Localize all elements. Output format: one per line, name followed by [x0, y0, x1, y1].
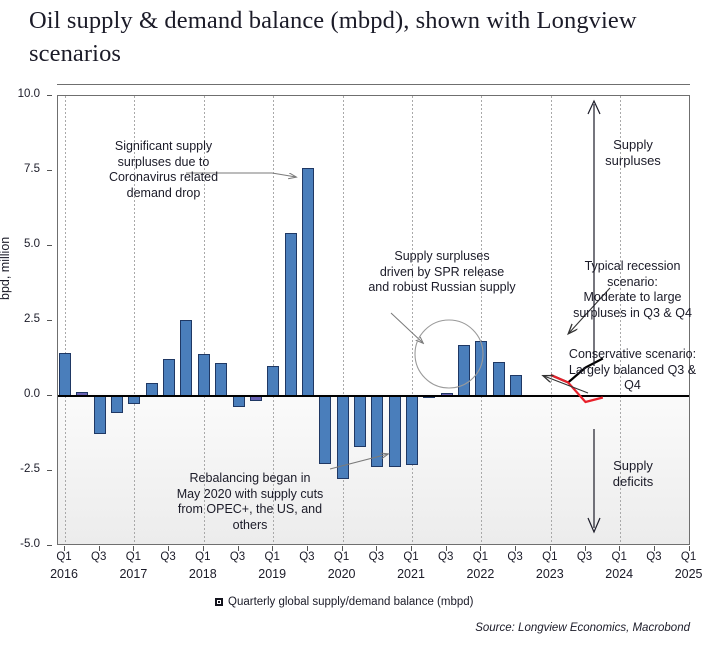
x-tick-label-year: 2016 — [36, 567, 92, 581]
x-tick-label-year: 2019 — [244, 567, 300, 581]
y-tick-label: -2.5 — [0, 463, 40, 475]
y-tick-mark — [47, 170, 52, 171]
x-tick-mark — [64, 546, 65, 551]
chart-legend: Quarterly global supply/demand balance (… — [215, 596, 473, 608]
x-tick-mark — [376, 546, 377, 551]
x-tick-label-year: 2022 — [452, 567, 508, 581]
y-tick-label: 0.0 — [0, 388, 40, 400]
title-divider — [57, 84, 690, 85]
x-tick-mark — [307, 546, 308, 551]
x-tick-mark — [689, 546, 690, 551]
x-tick-mark — [133, 546, 134, 551]
x-tick-mark — [238, 546, 239, 551]
x-tick-label-year: 2025 — [661, 567, 707, 581]
x-tick-label-quarter: Q1 — [669, 551, 707, 563]
y-tick-label: 7.5 — [0, 163, 40, 175]
x-tick-mark — [446, 546, 447, 551]
y-tick-mark — [47, 395, 52, 396]
x-tick-mark — [654, 546, 655, 551]
x-tick-label-quarter: Q3 — [703, 551, 707, 563]
x-tick-mark — [411, 546, 412, 551]
annotation-rebalancing: Rebalancing began in May 2020 with suppl… — [165, 471, 335, 533]
rebalancing-leader-line — [330, 454, 388, 469]
annotation-covid: Significant supply surpluses due to Coro… — [96, 139, 231, 201]
y-tick-mark — [47, 95, 52, 96]
y-tick-mark — [47, 470, 52, 471]
x-tick-mark — [342, 546, 343, 551]
x-tick-label-year: 2023 — [522, 567, 578, 581]
x-tick-mark — [585, 546, 586, 551]
y-tick-label: 10.0 — [0, 88, 40, 100]
label-supply-surpluses: Supply surpluses — [595, 137, 671, 169]
x-tick-label-year: 2020 — [314, 567, 370, 581]
x-tick-mark — [272, 546, 273, 551]
legend-swatch-icon — [215, 598, 223, 606]
x-tick-mark — [203, 546, 204, 551]
x-tick-label-year: 2021 — [383, 567, 439, 581]
legend-label: Quarterly global supply/demand balance (… — [228, 596, 473, 608]
annotation-recession-scenario: Typical recession scenario: Moderate to … — [560, 259, 705, 321]
x-tick-mark — [480, 546, 481, 551]
y-tick-mark — [47, 545, 52, 546]
x-tick-mark — [550, 546, 551, 551]
y-axis-title: bpd, million — [0, 237, 12, 300]
source-note: Source: Longview Economics, Macrobond — [475, 622, 690, 634]
x-tick-mark — [619, 546, 620, 551]
spr-highlight-circle — [415, 320, 483, 388]
y-tick-mark — [47, 320, 52, 321]
annotation-conservative-scenario: Conservative scenario: Largely balanced … — [560, 347, 705, 394]
x-tick-mark — [99, 546, 100, 551]
page-title: Oil supply & demand balance (mbpd), show… — [29, 4, 689, 70]
label-supply-deficits: Supply deficits — [595, 458, 671, 490]
x-tick-mark — [515, 546, 516, 551]
annotation-spr: Supply surpluses driven by SPR release a… — [352, 249, 532, 296]
x-tick-label-year: 2024 — [591, 567, 647, 581]
x-tick-mark — [168, 546, 169, 551]
y-tick-label: -5.0 — [0, 538, 40, 550]
y-tick-mark — [47, 245, 52, 246]
x-tick-label-year: 2017 — [105, 567, 161, 581]
y-tick-label: 2.5 — [0, 313, 40, 325]
x-tick-label-year: 2018 — [175, 567, 231, 581]
